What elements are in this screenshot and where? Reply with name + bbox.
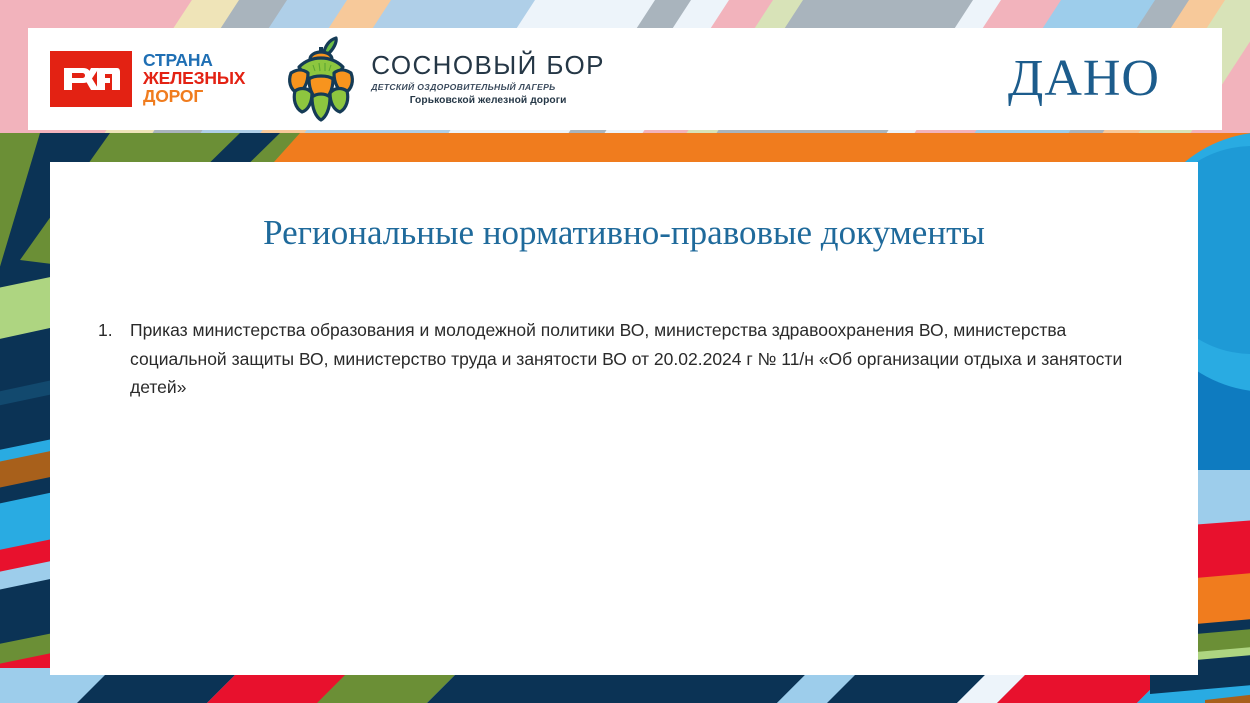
list-item: 1. Приказ министерства образования и мол…	[98, 316, 1138, 401]
brand-dano-label: ДАНО	[1008, 53, 1160, 105]
camp-logo: СОСНОВЫЙ БОР ДЕТСКИЙ ОЗДОРОВИТЕЛЬНЫЙ ЛАГ…	[279, 33, 605, 125]
pinecone-icon	[279, 33, 363, 125]
rzd-logo: СТРАНА ЖЕЛЕЗНЫХ ДОРОГ	[50, 51, 245, 107]
camp-subtitle-1: ДЕТСКИЙ ОЗДОРОВИТЕЛЬНЫЙ ЛАГЕРЬ	[371, 82, 605, 92]
camp-title: СОСНОВЫЙ БОР	[371, 52, 605, 79]
slide-title: Региональные нормативно-правовые докумен…	[50, 162, 1198, 256]
content-card: Региональные нормативно-правовые докумен…	[50, 162, 1198, 675]
camp-subtitle-2: Горьковской железной дороги	[371, 95, 605, 106]
rzd-mark-icon	[50, 51, 132, 107]
list-item-number: 1.	[98, 316, 130, 344]
list-item-text: Приказ министерства образования и молоде…	[130, 316, 1138, 401]
rzd-line3: ДОРОГ	[143, 88, 245, 106]
numbered-list: 1. Приказ министерства образования и мол…	[50, 316, 1198, 401]
header-card: СТРАНА ЖЕЛЕЗНЫХ ДОРОГ	[28, 28, 1222, 130]
